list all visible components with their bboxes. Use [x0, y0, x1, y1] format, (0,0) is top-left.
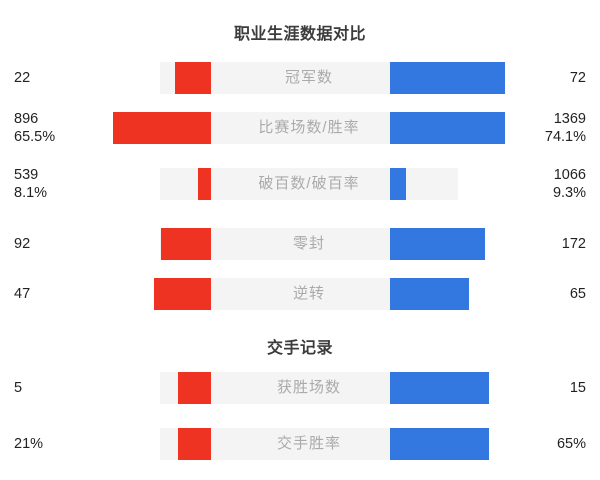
stat-name-champions: 冠军数	[160, 62, 458, 94]
left-value-sub: 8.1%	[14, 184, 47, 202]
stat-name-comeback: 逆转	[160, 278, 458, 310]
stat-row-h2h-wins: 5 获胜场数 15	[0, 366, 600, 410]
right-value-matches-winrate: 1369 74.1%	[545, 106, 586, 150]
stat-row-matches-winrate: 896 65.5% 比赛场数/胜率 1369 74.1%	[0, 106, 600, 150]
left-value-h2h-wins: 5	[14, 366, 22, 410]
left-value-main: 21%	[14, 435, 43, 453]
right-value-h2h-wins: 15	[570, 366, 586, 410]
left-value-main: 896	[14, 110, 38, 128]
left-value-matches-winrate: 896 65.5%	[14, 106, 55, 150]
stat-name-centuries: 破百数/破百率	[160, 168, 458, 200]
section-title-headtohead: 交手记录	[0, 334, 600, 358]
right-value-sub: 9.3%	[553, 184, 586, 202]
stats-comparison-panel: 职业生涯数据对比 22 冠军数 72 896 65.5% 比赛场数/胜率 136…	[0, 0, 600, 480]
right-value-h2h-winrate: 65%	[557, 422, 586, 466]
right-value-main: 1369	[554, 110, 586, 128]
right-value-comeback: 65	[570, 272, 586, 316]
stat-name-whitewash: 零封	[160, 228, 458, 260]
stat-row-h2h-winrate: 21% 交手胜率 65%	[0, 422, 600, 466]
right-value-main: 65%	[557, 435, 586, 453]
left-value-main: 5	[14, 379, 22, 397]
right-value-main: 65	[570, 285, 586, 303]
left-value-main: 539	[14, 166, 38, 184]
right-value-main: 15	[570, 379, 586, 397]
stat-row-whitewash: 92 零封 172	[0, 222, 600, 266]
left-value-champions: 22	[14, 56, 30, 100]
left-value-h2h-winrate: 21%	[14, 422, 43, 466]
right-value-champions: 72	[570, 56, 586, 100]
stat-name-h2h-wins: 获胜场数	[160, 372, 458, 404]
left-value-main: 92	[14, 235, 30, 253]
stat-row-champions: 22 冠军数 72	[0, 56, 600, 100]
stat-name-matches-winrate: 比赛场数/胜率	[160, 112, 458, 144]
left-value-sub: 65.5%	[14, 128, 55, 146]
left-value-whitewash: 92	[14, 222, 30, 266]
right-value-whitewash: 172	[562, 222, 586, 266]
stat-name-h2h-winrate: 交手胜率	[160, 428, 458, 460]
right-value-sub: 74.1%	[545, 128, 586, 146]
left-value-main: 22	[14, 69, 30, 87]
right-value-centuries: 1066 9.3%	[553, 162, 586, 206]
right-value-main: 72	[570, 69, 586, 87]
stat-row-comeback: 47 逆转 65	[0, 272, 600, 316]
right-value-main: 172	[562, 235, 586, 253]
left-value-main: 47	[14, 285, 30, 303]
stat-row-centuries: 539 8.1% 破百数/破百率 1066 9.3%	[0, 162, 600, 206]
left-value-centuries: 539 8.1%	[14, 162, 47, 206]
left-value-comeback: 47	[14, 272, 30, 316]
right-value-main: 1066	[554, 166, 586, 184]
section-title-career: 职业生涯数据对比	[0, 20, 600, 44]
